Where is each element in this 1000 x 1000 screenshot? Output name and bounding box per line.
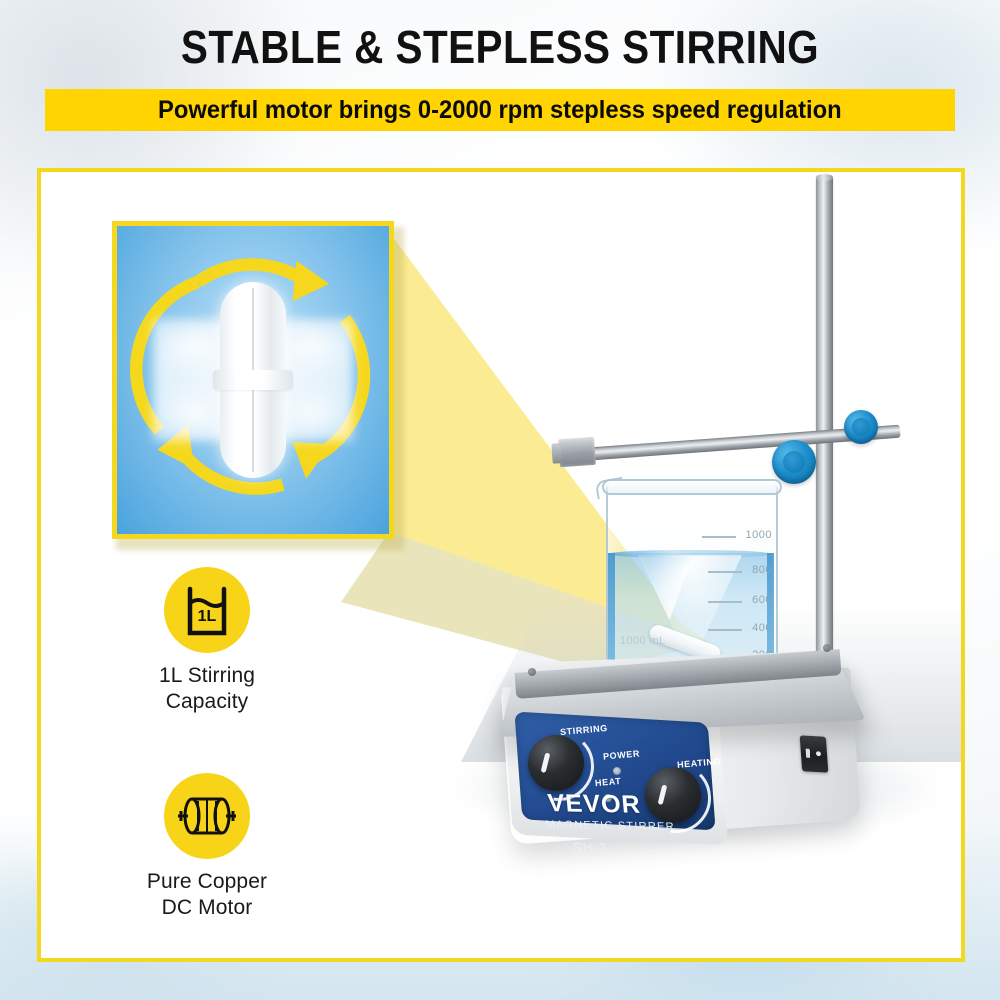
hotplate-screw-left [528, 668, 536, 676]
svg-text:1L: 1L [198, 608, 217, 625]
product-name-label: MAGNETIC STIRRER [545, 819, 675, 833]
beaker-icon: 1L [164, 567, 250, 653]
feature-stirring-capacity: 1L 1L Stirring Capacity [107, 567, 307, 715]
feature-label-motor-line2: DC Motor [107, 895, 307, 921]
power-led [613, 767, 621, 775]
subheadline-text: Powerful motor brings 0-2000 rpm steples… [158, 96, 842, 125]
model-label: SH-2 [572, 840, 608, 856]
stir-bar-ring [213, 370, 293, 390]
dc-motor-icon [164, 773, 250, 859]
product-marketing-image: STABLE & STEPLESS STIRRING Powerful moto… [0, 0, 1000, 1000]
power-rocker-switch[interactable] [800, 735, 829, 772]
stir-bar [220, 282, 286, 478]
hotplate-screw-right [823, 644, 831, 652]
content-frame: 1000 800 600 400 200 1000 mL STIRRING HE… [37, 168, 965, 962]
headline: STABLE & STEPLESS STIRRING [60, 20, 940, 74]
feature-dc-motor: Pure Copper DC Motor [107, 773, 307, 921]
feature-label-capacity-line2: Capacity [107, 689, 307, 715]
feature-label-motor-line1: Pure Copper [107, 869, 307, 895]
feature-label-capacity-line1: 1L Stirring [107, 663, 307, 689]
brand-logo: VEVOR [546, 789, 642, 820]
stir-bar-inset [112, 221, 394, 539]
feature-label-motor: Pure Copper DC Motor [107, 869, 307, 921]
feature-label-capacity: 1L Stirring Capacity [107, 663, 307, 715]
subheadline-banner: Powerful motor brings 0-2000 rpm steples… [45, 89, 955, 131]
